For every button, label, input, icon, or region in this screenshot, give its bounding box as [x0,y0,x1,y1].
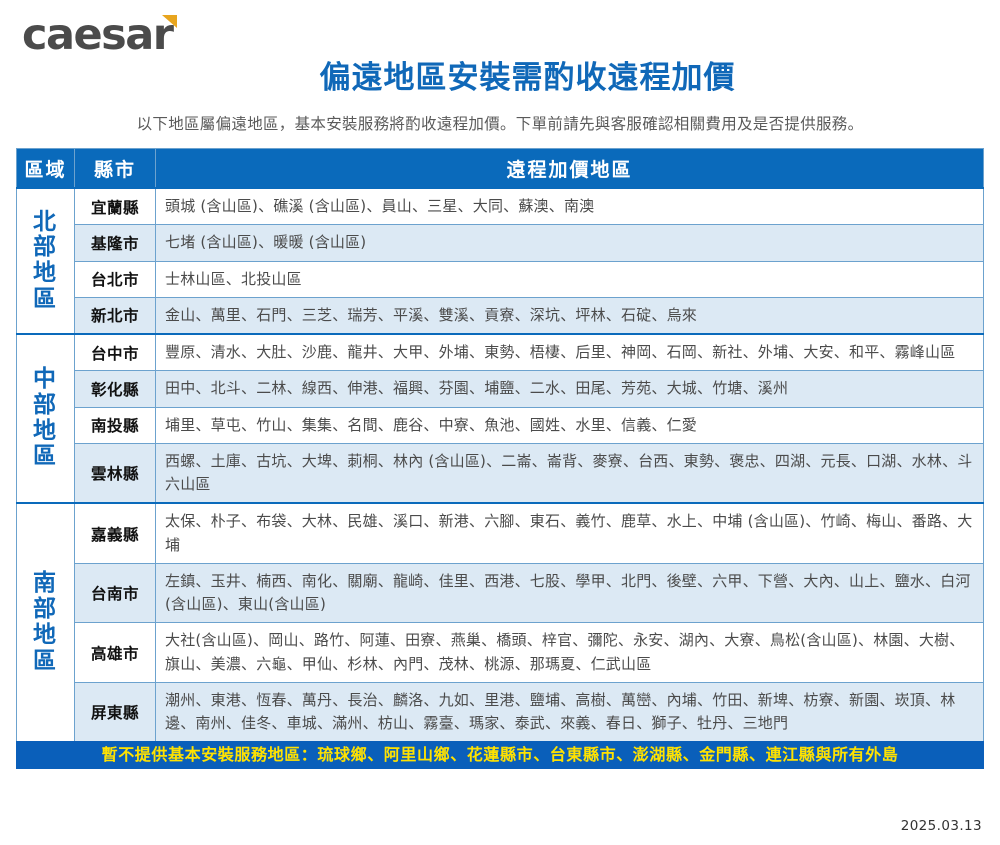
remote-area-table: 區域 縣市 遠程加價地區 北部地區 宜蘭縣 頭城 (含山區)、礁溪 (含山區)、… [16,148,984,742]
county-label: 屏東縣 [75,682,156,742]
table-row: 高雄市 大社(含山區)、岡山、路竹、阿蓮、田寮、燕巢、橋頭、梓官、彌陀、永安、湖… [17,623,984,683]
table-row: 台南市 左鎮、玉井、楠西、南化、關廟、龍崎、佳里、西港、七股、學甲、北門、後壁、… [17,563,984,623]
areas-text: 太保、朴子、布袋、大林、民雄、溪口、新港、六腳、東石、義竹、鹿草、水上、中埔 (… [156,503,984,563]
table-row: 南投縣 埔里、草屯、竹山、集集、名間、鹿谷、中寮、魚池、國姓、水里、信義、仁愛 [17,407,984,443]
areas-text: 田中、北斗、二林、線西、伸港、福興、芬園、埔鹽、二水、田尾、芳苑、大城、竹塘、溪… [156,371,984,407]
areas-text: 七堵 (含山區)、暖暖 (含山區) [156,225,984,261]
document-date: 2025.03.13 [901,818,982,834]
table-row: 新北市 金山、萬里、石門、三芝、瑞芳、平溪、雙溪、貢寮、深坑、坪林、石碇、烏來 [17,297,984,334]
table-body: 北部地區 宜蘭縣 頭城 (含山區)、礁溪 (含山區)、員山、三星、大同、蘇澳、南… [17,188,984,742]
county-label: 雲林縣 [75,443,156,503]
county-label: 宜蘭縣 [75,188,156,225]
region-label-south: 南部地區 [17,503,75,742]
table-row: 基隆市 七堵 (含山區)、暖暖 (含山區) [17,225,984,261]
page-subtitle: 以下地區屬偏遠地區，基本安裝服務將酌收遠程加價。下單前請先與客服確認相關費用及是… [0,112,1000,134]
table-row: 彰化縣 田中、北斗、二林、線西、伸港、福興、芬園、埔鹽、二水、田尾、芳苑、大城、… [17,371,984,407]
table-row: 中部地區 台中市 豐原、清水、大肚、沙鹿、龍井、大甲、外埔、東勢、梧棲、后里、神… [17,334,984,371]
region-label-central: 中部地區 [17,334,75,503]
brand-accent-icon [162,15,177,28]
unserviced-area-note: 暫不提供基本安裝服務地區：琉球鄉、阿里山鄉、花蓮縣市、台東縣市、澎湖縣、金門縣、… [16,741,984,769]
remote-area-table-wrapper: 區域 縣市 遠程加價地區 北部地區 宜蘭縣 頭城 (含山區)、礁溪 (含山區)、… [16,148,984,769]
areas-text: 大社(含山區)、岡山、路竹、阿蓮、田寮、燕巢、橋頭、梓官、彌陀、永安、湖內、大寮… [156,623,984,683]
county-label: 彰化縣 [75,371,156,407]
table-header-row: 區域 縣市 遠程加價地區 [17,149,984,189]
county-label: 新北市 [75,297,156,334]
table-row: 屏東縣 潮州、東港、恆春、萬丹、長治、麟洛、九如、里港、鹽埔、高樹、萬巒、內埔、… [17,682,984,742]
county-label: 台南市 [75,563,156,623]
areas-text: 潮州、東港、恆春、萬丹、長治、麟洛、九如、里港、鹽埔、高樹、萬巒、內埔、竹田、新… [156,682,984,742]
table-row: 北部地區 宜蘭縣 頭城 (含山區)、礁溪 (含山區)、員山、三星、大同、蘇澳、南… [17,188,984,225]
table-row: 台北市 士林山區、北投山區 [17,261,984,297]
areas-text: 左鎮、玉井、楠西、南化、關廟、龍崎、佳里、西港、七股、學甲、北門、後壁、六甲、下… [156,563,984,623]
areas-text: 金山、萬里、石門、三芝、瑞芳、平溪、雙溪、貢寮、深坑、坪林、石碇、烏來 [156,297,984,334]
county-label: 嘉義縣 [75,503,156,563]
county-label: 高雄市 [75,623,156,683]
column-header-county: 縣市 [75,149,156,189]
areas-text: 埔里、草屯、竹山、集集、名間、鹿谷、中寮、魚池、國姓、水里、信義、仁愛 [156,407,984,443]
areas-text: 頭城 (含山區)、礁溪 (含山區)、員山、三星、大同、蘇澳、南澳 [156,188,984,225]
table-row: 南部地區 嘉義縣 太保、朴子、布袋、大林、民雄、溪口、新港、六腳、東石、義竹、鹿… [17,503,984,563]
page-header: caesar 偏遠地區安裝需酌收遠程加價 以下地區屬偏遠地區，基本安裝服務將酌收… [0,0,1000,148]
page-title: 偏遠地區安裝需酌收遠程加價 [0,52,1000,97]
county-label: 台中市 [75,334,156,371]
table-head: 區域 縣市 遠程加價地區 [17,149,984,189]
areas-text: 西螺、土庫、古坑、大埤、莿桐、林內 (含山區)、二崙、崙背、麥寮、台西、東勢、褒… [156,443,984,503]
areas-text: 士林山區、北投山區 [156,261,984,297]
column-header-region: 區域 [17,149,75,189]
areas-text: 豐原、清水、大肚、沙鹿、龍井、大甲、外埔、東勢、梧棲、后里、神岡、石岡、新社、外… [156,334,984,371]
table-row: 雲林縣 西螺、土庫、古坑、大埤、莿桐、林內 (含山區)、二崙、崙背、麥寮、台西、… [17,443,984,503]
brand-logo: caesar [22,14,175,57]
county-label: 南投縣 [75,407,156,443]
region-label-north: 北部地區 [17,188,75,334]
column-header-areas: 遠程加價地區 [156,149,984,189]
county-label: 台北市 [75,261,156,297]
county-label: 基隆市 [75,225,156,261]
